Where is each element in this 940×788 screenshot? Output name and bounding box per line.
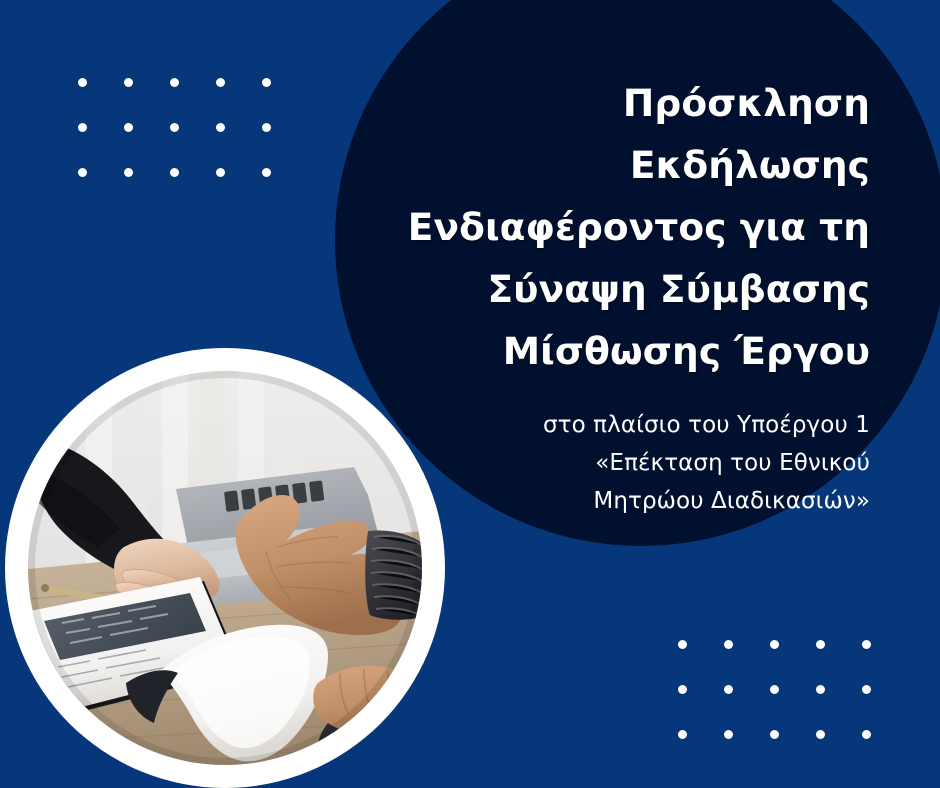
decorative-dot [770, 685, 779, 694]
photo-circle [28, 371, 422, 765]
decorative-dot [170, 123, 179, 132]
decorative-dot [124, 78, 133, 87]
decorative-dot [724, 640, 733, 649]
dot-grid-top-left [78, 78, 308, 213]
decorative-dot [216, 168, 225, 177]
decorative-dot [124, 123, 133, 132]
decorative-dot [816, 730, 825, 739]
decorative-dot [816, 685, 825, 694]
decorative-dot [770, 640, 779, 649]
decorative-dot [78, 78, 87, 87]
decorative-dot [262, 78, 271, 87]
decorative-dot [216, 78, 225, 87]
poster-canvas: Πρόσκληση Εκδήλωσης Ενδιαφέροντος για τη… [0, 0, 940, 788]
page-title: Πρόσκληση Εκδήλωσης Ενδιαφέροντος για τη… [370, 72, 870, 382]
decorative-dot [678, 640, 687, 649]
decorative-dot [170, 168, 179, 177]
decorative-dot [724, 685, 733, 694]
decorative-dot [78, 123, 87, 132]
decorative-dot [170, 78, 179, 87]
decorative-dot [78, 168, 87, 177]
decorative-dot [770, 730, 779, 739]
decorative-dot [262, 123, 271, 132]
decorative-dot [862, 685, 871, 694]
decorative-dot [724, 730, 733, 739]
decorative-dot [216, 123, 225, 132]
text-block: Πρόσκληση Εκδήλωσης Ενδιαφέροντος για τη… [370, 72, 870, 520]
decorative-dot [262, 168, 271, 177]
decorative-dot [862, 640, 871, 649]
page-subtitle: στο πλαίσιο του Υποέργου 1 «Επέκταση του… [370, 406, 870, 520]
decorative-dot [678, 730, 687, 739]
decorative-dot [678, 685, 687, 694]
decorative-dot [124, 168, 133, 177]
decorative-dot [816, 640, 825, 649]
decorative-dot [862, 730, 871, 739]
dot-grid-bottom-right [678, 640, 908, 775]
